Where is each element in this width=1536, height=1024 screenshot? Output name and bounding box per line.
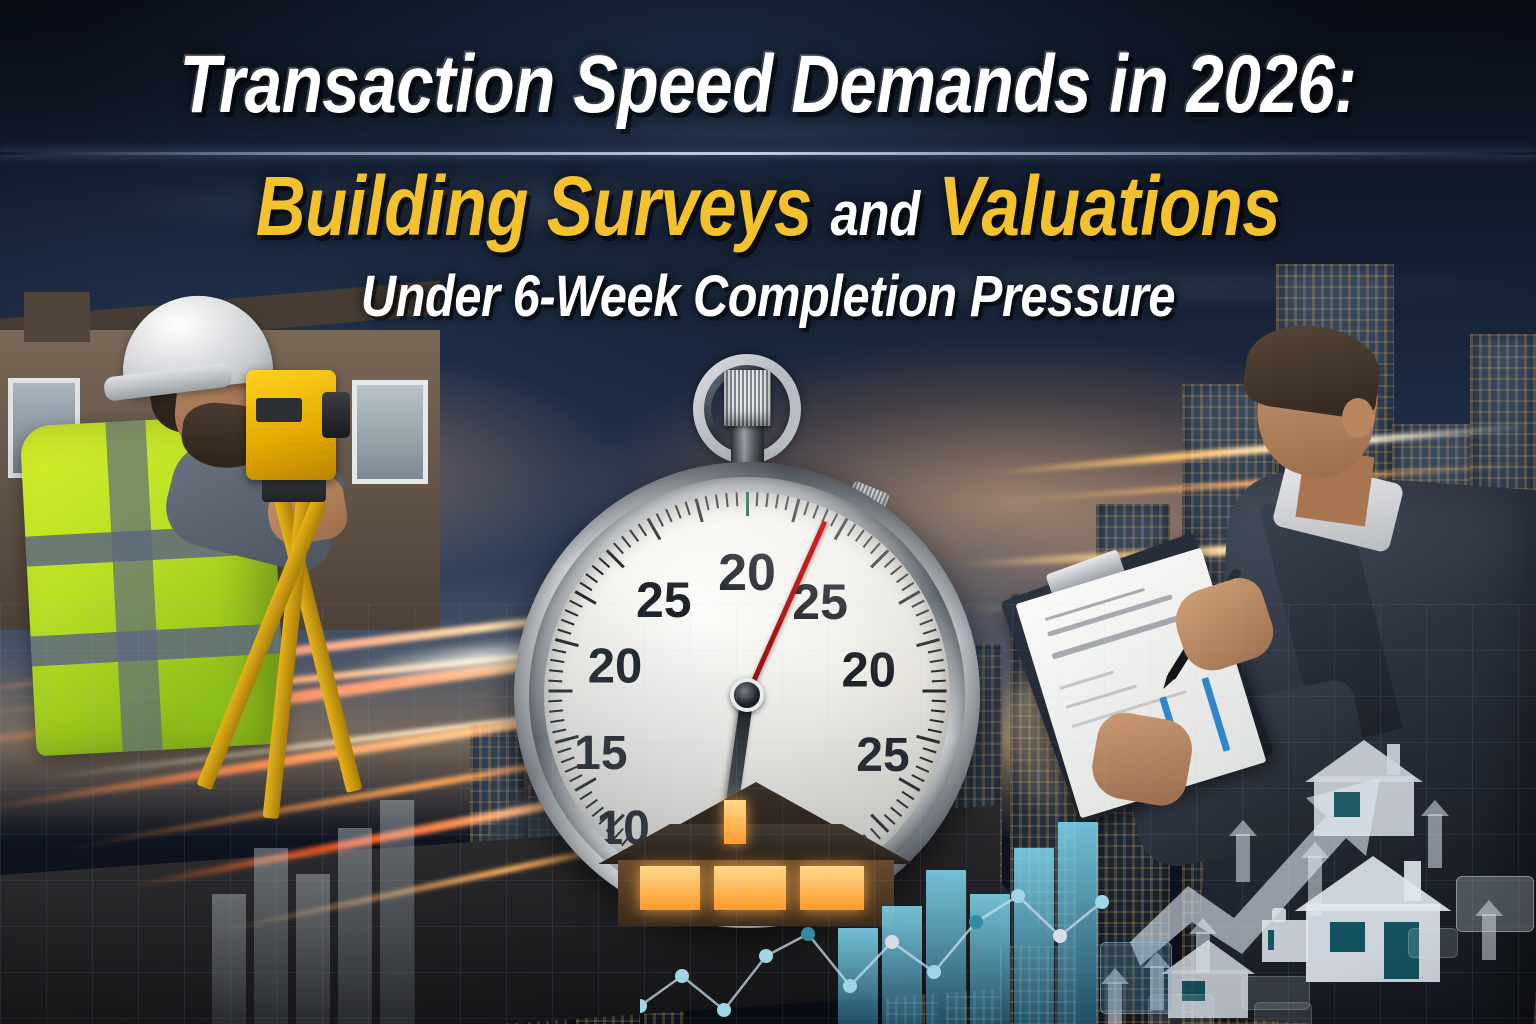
trend-line-chart [640,880,1160,1024]
title-highlight-valuations: Valuations [939,159,1281,253]
page-title: Transaction Speed Demands in 2026: Build… [0,44,1536,326]
ui-plate [1408,928,1458,958]
valuer-ear [1342,398,1374,438]
house-icon [1314,740,1414,836]
poster-canvas: 20 25 20 15 10 25 20 25 [0,0,1536,1024]
up-arrow-icon [1308,856,1322,916]
ui-plate [1254,1002,1312,1024]
building-icon [1262,920,1308,962]
title-highlight-surveys: Building Surveys [256,159,812,253]
title-line-1: Transaction Speed Demands in 2026: [138,44,1398,126]
title-conjunction: and [831,180,920,249]
ui-plate [1456,876,1534,932]
up-arrow-icon [1196,932,1210,972]
ui-plate [1100,942,1172,1014]
title-line-2: Building Surveys and Valuations [138,164,1398,248]
up-arrow-icon [1236,834,1250,882]
house-icon [1306,856,1440,982]
title-line-3: Under 6-Week Completion Pressure [123,268,1413,326]
up-arrow-icon [1428,814,1442,868]
